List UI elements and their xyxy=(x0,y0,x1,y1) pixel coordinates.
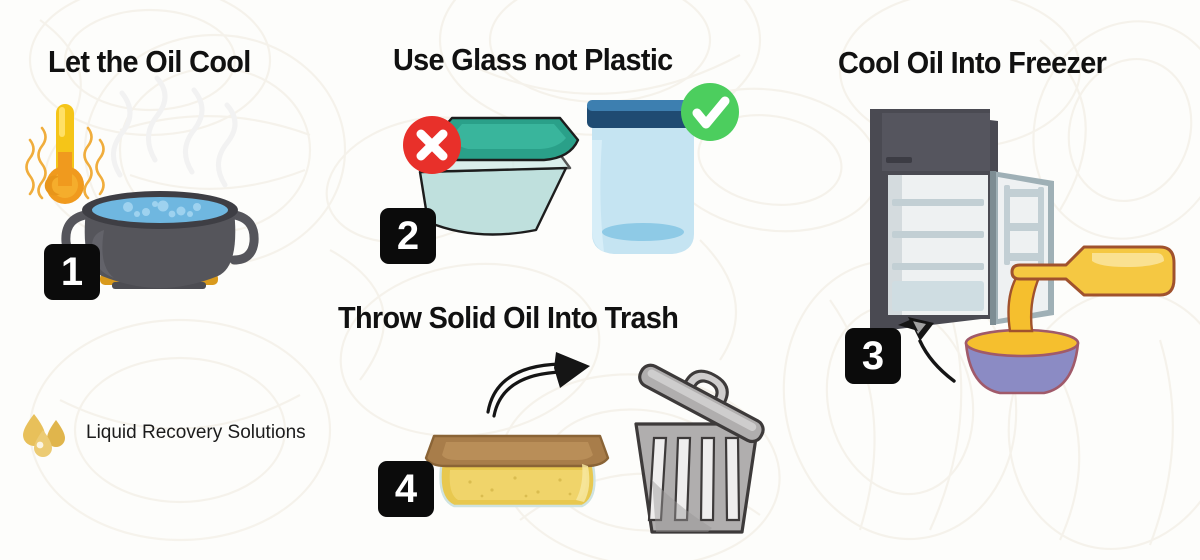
thermometer-icon xyxy=(45,104,84,204)
step-3-heading: Cool Oil Into Freezer xyxy=(838,45,1106,81)
step-2-heading: Use Glass not Plastic xyxy=(393,42,673,78)
infographic-root: Let the Oil Cool Use Glass not Plastic C… xyxy=(0,0,1200,560)
oil-droplets-icon xyxy=(18,412,70,454)
step-4-illustration xyxy=(370,350,760,550)
red-x-badge xyxy=(403,116,461,174)
door-rack-icon xyxy=(1004,185,1044,265)
cooking-pot-icon xyxy=(82,191,238,288)
step-1-heading: Let the Oil Cool xyxy=(48,44,251,80)
arrow-icon xyxy=(488,352,590,416)
solid-oil-container-icon xyxy=(426,436,608,506)
step-1-number-badge: 1 xyxy=(44,244,100,300)
green-check-badge xyxy=(681,83,739,141)
power-plug-icon xyxy=(898,317,954,381)
bowl-icon xyxy=(966,330,1078,393)
steam-icon xyxy=(113,78,235,185)
brand-name: Liquid Recovery Solutions xyxy=(86,422,306,444)
trash-can-icon xyxy=(636,344,776,532)
step-3-number-badge: 3 xyxy=(845,328,901,384)
step-4-number-badge: 4 xyxy=(378,461,434,517)
step-2-number-badge: 2 xyxy=(380,208,436,264)
brand-footer: Liquid Recovery Solutions xyxy=(18,412,306,454)
step-4-heading: Throw Solid Oil Into Trash xyxy=(338,300,678,336)
glass-jar-icon xyxy=(587,100,699,254)
